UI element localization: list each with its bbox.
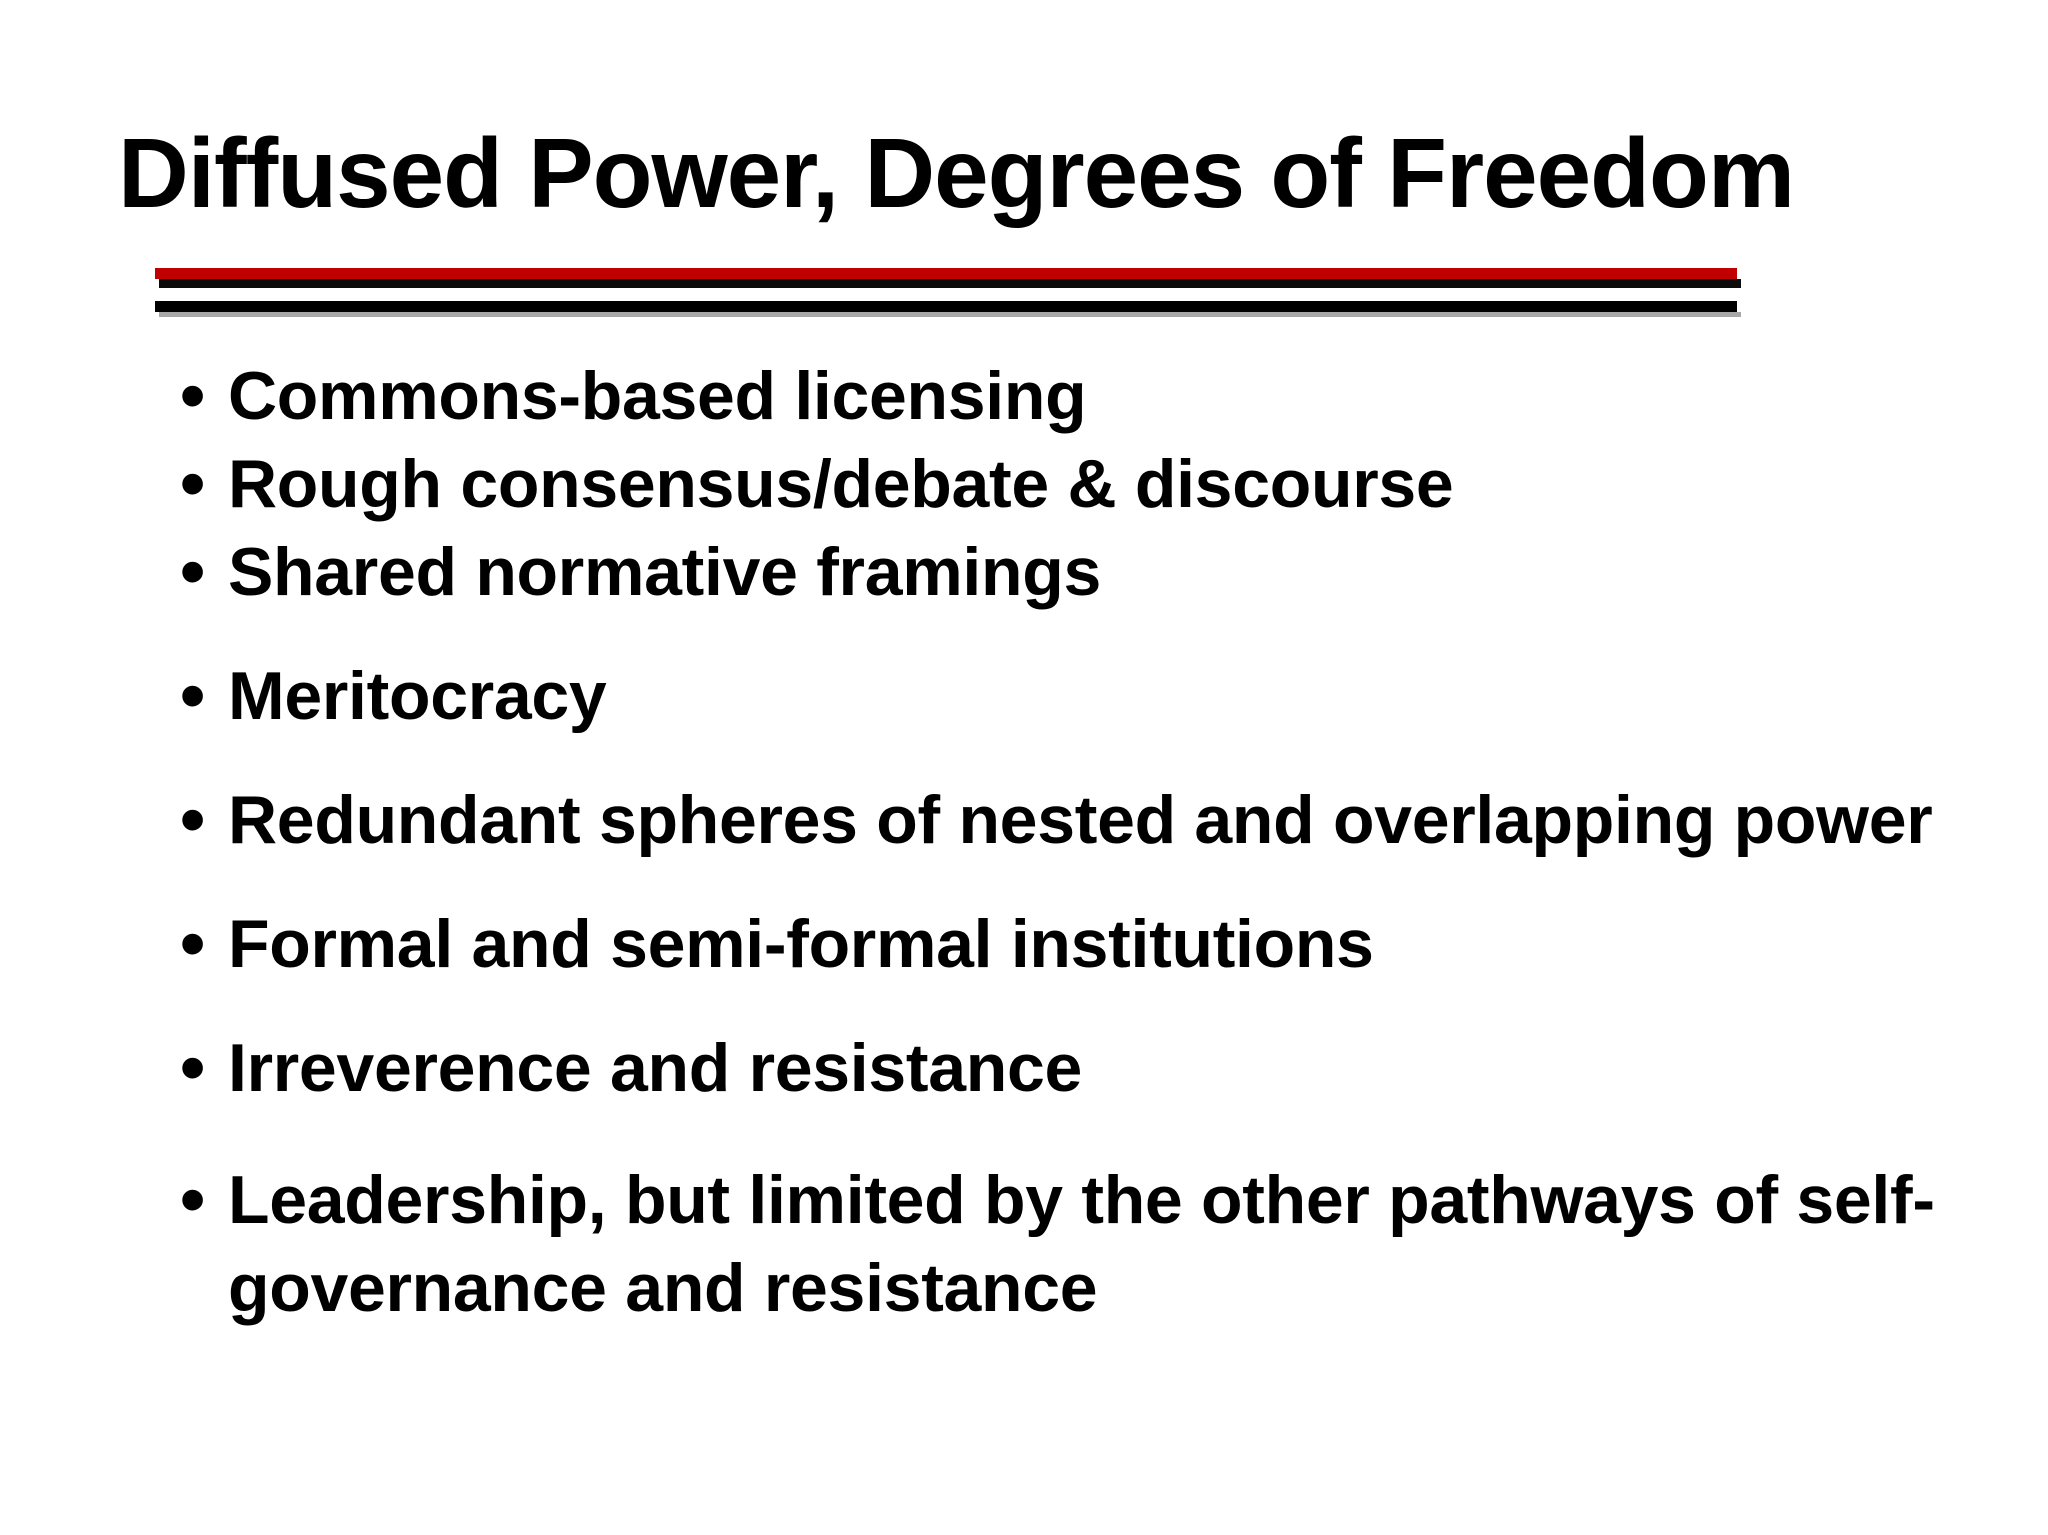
list-item: • Leadership, but limited by the other p…	[170, 1156, 2010, 1332]
list-item-label: Redundant spheres of nested and overlapp…	[228, 776, 2010, 864]
list-item: • Rough consensus/debate & discourse	[170, 440, 2010, 528]
list-item: • Commons-based licensing	[170, 352, 2010, 440]
bullet-point-icon: •	[170, 440, 228, 528]
list-item-label: Meritocracy	[228, 652, 2010, 740]
bullet-list: • Commons-based licensing • Rough consen…	[170, 352, 2010, 1332]
list-item-label: Commons-based licensing	[228, 352, 2010, 440]
bullet-point-icon: •	[170, 776, 228, 864]
divider-black-rule	[155, 301, 1737, 312]
list-item-label: Rough consensus/debate & discourse	[228, 440, 2010, 528]
slide-title-block: Diffused Power, Degrees of Freedom	[118, 118, 1938, 228]
presentation-slide: Diffused Power, Degrees of Freedom • Com…	[0, 0, 2048, 1535]
divider-red-rule-shadow	[159, 279, 1741, 288]
bullet-point-icon: •	[170, 900, 228, 988]
page-title: Diffused Power, Degrees of Freedom	[118, 118, 1938, 228]
bullet-point-icon: •	[170, 352, 228, 440]
list-item-label: Irreverence and resistance	[228, 1024, 2010, 1112]
list-item: • Redundant spheres of nested and overla…	[170, 776, 2010, 864]
divider-red-rule	[155, 268, 1737, 279]
bullet-point-icon: •	[170, 1156, 228, 1244]
bullet-point-icon: •	[170, 652, 228, 740]
list-item: • Formal and semi-formal institutions	[170, 900, 2010, 988]
title-divider	[155, 268, 1737, 314]
list-item: • Irreverence and resistance	[170, 1024, 2010, 1112]
list-item: • Shared normative framings	[170, 528, 2010, 616]
list-item-label: Shared normative framings	[228, 528, 2010, 616]
list-item: • Meritocracy	[170, 652, 2010, 740]
bullet-point-icon: •	[170, 1024, 228, 1112]
list-item-label: Leadership, but limited by the other pat…	[228, 1156, 2010, 1332]
list-item-label: Formal and semi-formal institutions	[228, 900, 2010, 988]
bullet-point-icon: •	[170, 528, 228, 616]
divider-black-rule-shadow	[159, 312, 1741, 317]
